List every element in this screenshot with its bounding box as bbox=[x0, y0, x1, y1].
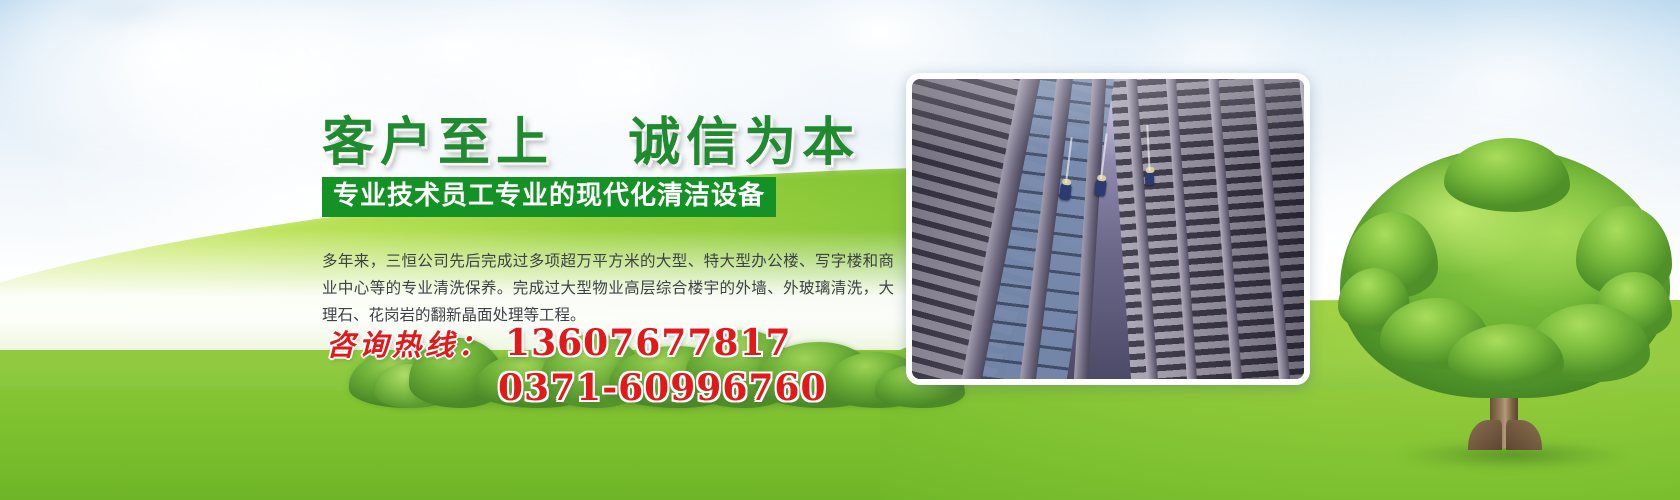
hotline-mobile-number[interactable]: 13607677817 bbox=[505, 322, 792, 364]
subtitle-bar: 专业技术员工专业的现代化清洁设备 bbox=[322, 177, 776, 217]
headline-part-2: 诚信为本 bbox=[628, 112, 860, 173]
hotline-landline-number[interactable]: 0371-60996760 bbox=[498, 367, 827, 409]
building-photo-frame bbox=[906, 73, 1310, 385]
hotline-primary: 咨询热线： 13607677817 bbox=[326, 322, 792, 364]
headline-part-1: 客户至上 bbox=[322, 112, 554, 173]
cloud-shadow-icon bbox=[40, 0, 230, 40]
window-cleaner-worker-icon bbox=[1145, 171, 1155, 185]
grass-field-blend bbox=[0, 320, 1680, 390]
promo-banner: 客户至上 诚信为本 专业技术员工专业的现代化清洁设备 多年来，三恒公司先后完成过… bbox=[0, 0, 1680, 500]
hotline-label: 咨询热线： bbox=[326, 322, 491, 364]
building-photo bbox=[912, 79, 1304, 379]
subtitle-bar-label: 专业技术员工专业的现代化清洁设备 bbox=[333, 181, 765, 211]
window-cleaner-worker-icon bbox=[1094, 178, 1107, 196]
banner-headline: 客户至上 诚信为本 bbox=[322, 100, 860, 175]
window-cleaner-worker-icon bbox=[1059, 182, 1072, 200]
cloud-icon bbox=[1280, 0, 1680, 210]
company-description: 多年来，三恒公司先后完成过多项超万平方米的大型、特大型办公楼、写字楼和商业中心等… bbox=[322, 248, 894, 329]
